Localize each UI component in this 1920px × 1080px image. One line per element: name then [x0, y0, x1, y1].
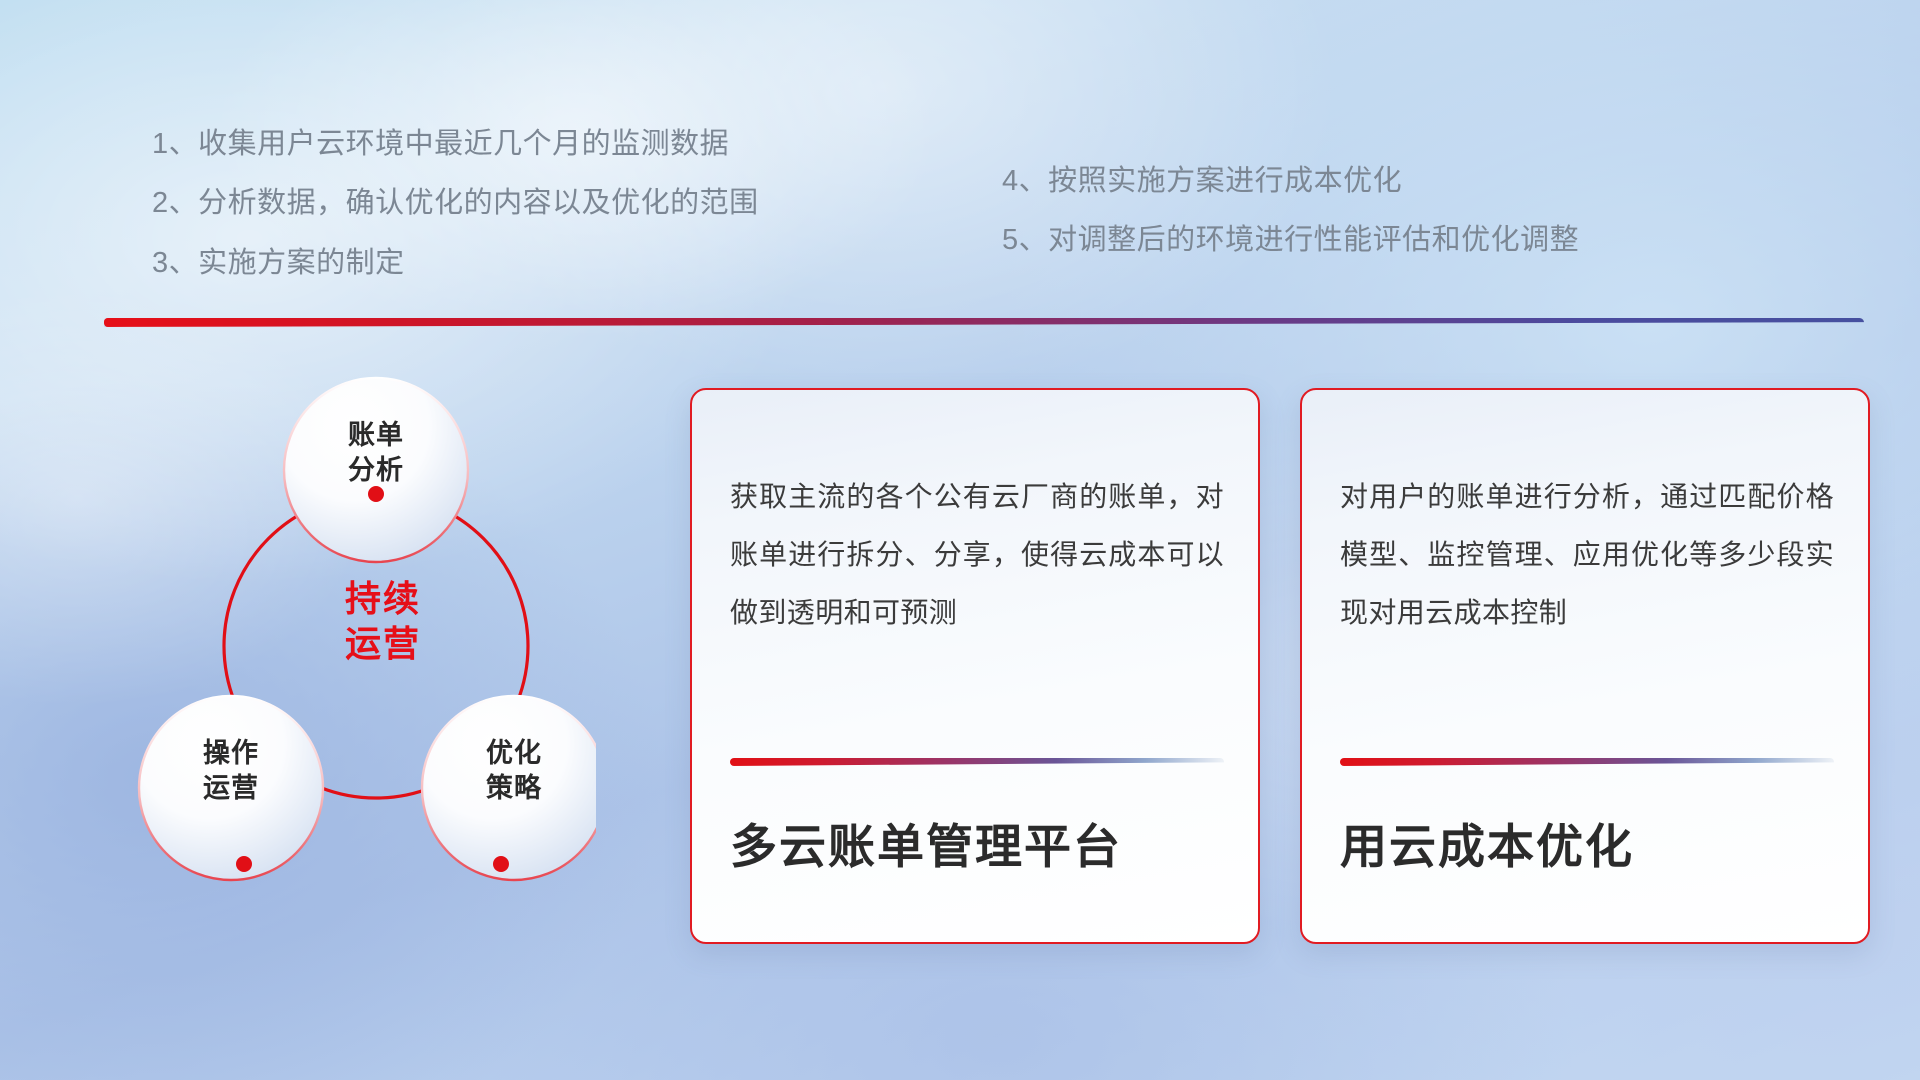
steps-list-left: 1、收集用户云环境中最近几个月的监测数据 2、分析数据，确认优化的内容以及优化的…	[152, 128, 759, 306]
node-dot-bottom-right	[493, 856, 509, 872]
circle-label-line: 分析	[296, 453, 456, 488]
circle-label-bottom-left: 操作 运营	[151, 736, 311, 805]
step-item: 5、对调整后的环境进行性能评估和优化调整	[1002, 224, 1579, 257]
header-divider	[104, 318, 1864, 327]
card-divider	[730, 758, 1224, 766]
step-item: 1、收集用户云环境中最近几个月的监测数据	[152, 128, 759, 161]
diagram-center-label: 持续 运营	[293, 576, 473, 667]
node-dot-top	[368, 486, 384, 502]
card-divider	[1340, 758, 1834, 766]
node-dot-bottom-left	[236, 856, 252, 872]
circle-label-line: 操作	[151, 736, 311, 771]
card-title: 多云账单管理平台	[730, 808, 1230, 877]
steps-list-right: 4、按照实施方案进行成本优化 5、对调整后的环境进行性能评估和优化调整	[1002, 165, 1579, 284]
step-item: 4、按照实施方案进行成本优化	[1002, 165, 1579, 198]
card-body-text: 获取主流的各个公有云厂商的账单，对账单进行拆分、分享，使得云成本可以做到透明和可…	[730, 468, 1224, 643]
card-cloud-cost-optimization[interactable]: 对用户的账单进行分析，通过匹配价格模型、监控管理、应用优化等多少段实现对用云成本…	[1300, 388, 1870, 944]
circle-label-line: 优化	[434, 736, 594, 771]
card-body-text: 对用户的账单进行分析，通过匹配价格模型、监控管理、应用优化等多少段实现对用云成本…	[1340, 468, 1834, 643]
continuous-operation-diagram: 账单 分析 操作 运营 优化 策略 持续 运营	[96, 348, 596, 948]
step-item: 2、分析数据，确认优化的内容以及优化的范围	[152, 187, 759, 220]
card-title: 用云成本优化	[1340, 808, 1840, 877]
center-label-line: 持续	[293, 576, 473, 621]
circle-label-top: 账单 分析	[296, 418, 456, 487]
circle-label-line: 运营	[151, 771, 311, 806]
circle-label-bottom-right: 优化 策略	[434, 736, 594, 805]
step-item: 3、实施方案的制定	[152, 247, 759, 280]
center-label-line: 运营	[293, 621, 473, 666]
card-multicloud-billing[interactable]: 获取主流的各个公有云厂商的账单，对账单进行拆分、分享，使得云成本可以做到透明和可…	[690, 388, 1260, 944]
circle-label-line: 账单	[296, 418, 456, 453]
circle-label-line: 策略	[434, 771, 594, 806]
